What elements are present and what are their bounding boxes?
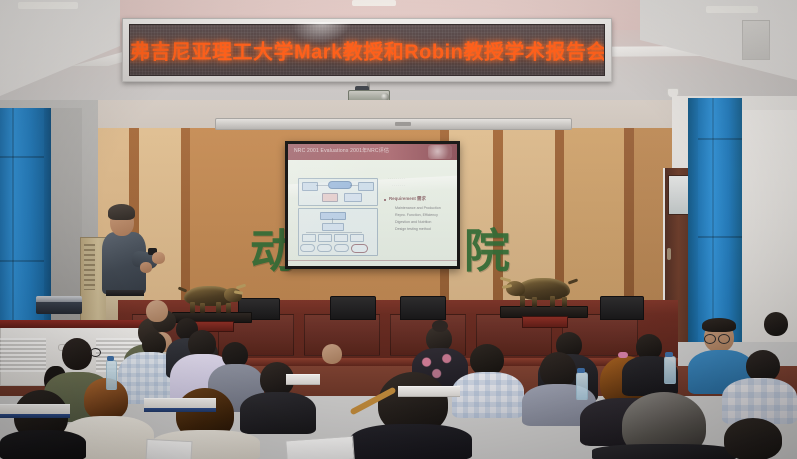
presenter-hand	[152, 252, 165, 264]
led-banner-glare	[287, 22, 352, 44]
slide-diagram-highlight	[351, 244, 368, 253]
laptop-on-desk[interactable]	[36, 300, 82, 314]
slide-diagram-node	[302, 234, 316, 242]
door-handle[interactable]	[667, 248, 671, 260]
bull-leg	[226, 303, 231, 313]
led-scrolling-banner: 弗吉尼亚理工大学Mark教授和Robin教授学术报告会	[129, 24, 605, 76]
eyeglasses-icon	[90, 348, 101, 357]
slide-diagram-node	[344, 193, 362, 202]
slide-diagram-node	[358, 182, 374, 191]
lecture-hall-photo: 弗吉尼亚理工大学Mark教授和Robin教授学术报告会	[0, 0, 797, 459]
wall-sign-char-right: 院	[464, 215, 510, 281]
slide-bullet-item: Maintenance and Production	[395, 206, 441, 210]
cabinet-vent-grille	[84, 244, 95, 290]
slide-subtle-line: . . . . . . . . .	[388, 176, 405, 180]
bull-leg	[520, 296, 525, 307]
notebook-paper[interactable]	[145, 439, 192, 459]
slide-footer-rule	[288, 260, 457, 261]
projection-screen-housing	[215, 118, 572, 130]
bull-leg	[190, 302, 195, 313]
slide-header-bar: NRC 2001 Evaluations 2001年NRC评估	[288, 144, 457, 160]
water-bottle[interactable]	[106, 360, 117, 390]
water-bottle[interactable]	[664, 356, 676, 384]
bull-head	[224, 288, 242, 302]
laptop-screen	[36, 296, 82, 302]
slide-diagram-node	[334, 234, 348, 242]
presenter-belt	[106, 290, 144, 296]
presenter-hair	[108, 204, 135, 220]
bottle-cap	[665, 352, 673, 357]
audience-table	[286, 374, 320, 385]
slide-diagram-node	[334, 244, 349, 252]
slide-diagram-node	[322, 223, 344, 231]
screen-housing-label	[395, 122, 411, 126]
sculpture-plaque	[522, 316, 568, 328]
bull-leg	[562, 297, 567, 307]
slide-diagram-node	[350, 234, 364, 242]
slide-diagram-node	[328, 181, 352, 189]
presenter-hand	[140, 262, 152, 273]
slide-diagram-node	[300, 244, 315, 252]
bull-leg	[216, 302, 221, 313]
ceiling-light	[18, 2, 78, 9]
led-banner-text: 弗吉尼亚理工大学Mark教授和Robin教授学术报告会	[130, 36, 604, 65]
slide-header-text: NRC 2001 Evaluations 2001年NRC评估	[294, 147, 389, 154]
ceiling-air-vent	[742, 20, 770, 60]
bottle-cap	[577, 368, 585, 373]
slide-bullet-heading: Requirement 需求	[389, 196, 426, 202]
eyeglasses-icon	[718, 334, 730, 344]
bull-leg	[550, 296, 555, 307]
water-bottle[interactable]	[576, 372, 588, 400]
eyeglasses-icon	[704, 334, 716, 344]
projection-screen: NRC 2001 Evaluations 2001年NRC评估	[288, 144, 457, 266]
audience-hair	[702, 318, 736, 332]
blue-column-right	[698, 98, 742, 342]
slide-logo-icon	[428, 145, 452, 159]
slide-subtle-line: . . . . . . .	[392, 183, 405, 187]
bottle-cap	[107, 356, 114, 361]
audience-table-edge	[0, 414, 70, 418]
stage-chair[interactable]	[400, 296, 446, 320]
slide-diagram-node	[317, 244, 332, 252]
slide-diagram-node	[320, 212, 346, 220]
desk-vent-grille	[0, 338, 46, 372]
bull-leg	[200, 303, 205, 313]
ceiling-light	[706, 6, 758, 13]
bull-head	[506, 281, 525, 296]
hair-clip	[618, 352, 628, 358]
notebook-paper[interactable]	[285, 436, 355, 459]
ceiling-light	[352, 0, 396, 6]
slide-diagram-node	[302, 182, 318, 191]
front-left-desk-trim	[0, 320, 152, 328]
stage-chair[interactable]	[600, 296, 644, 320]
slide-diagram-node	[322, 193, 338, 202]
slide-bullet-item: Design testing method	[395, 227, 431, 231]
bull-leg	[532, 297, 537, 307]
slide-body: . . . . . . . . . . . . . . . . Requirem…	[288, 160, 457, 266]
audience-table-edge	[144, 408, 216, 412]
slide-diagram-node	[318, 234, 332, 242]
stage-chair[interactable]	[330, 296, 376, 320]
slide-bullet-item: Digestion and Nutrition	[395, 220, 431, 224]
audience-table	[398, 386, 460, 397]
slide-bullet-item: Repro. Function, Efficiency	[395, 213, 438, 217]
